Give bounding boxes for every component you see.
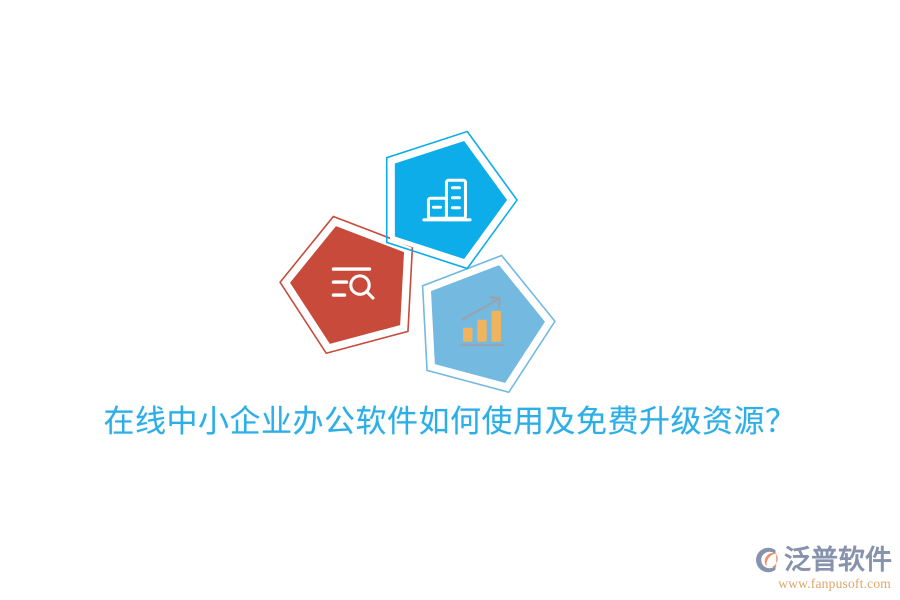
page-title: 在线中小企业办公软件如何使用及免费升级资源？ [0, 400, 900, 444]
chart-bar-2 [477, 320, 487, 342]
pentagon-cluster-graphic [280, 120, 570, 400]
brand-name: 泛普软件 [784, 545, 892, 575]
chart-bar-1 [463, 328, 473, 342]
chart-bar-3 [491, 311, 501, 342]
brand-watermark: 泛普软件 www.fanpusoft.com [756, 536, 892, 592]
pentagon-chart [402, 238, 568, 399]
brand-url: www.fanpusoft.com [778, 575, 891, 592]
brand-logo-row: 泛普软件 [752, 544, 892, 576]
fanpu-circle-mark-icon [752, 545, 782, 575]
page-canvas: 在线中小企业办公软件如何使用及免费升级资源？ 泛普软件 www.fanpusof… [0, 0, 900, 600]
